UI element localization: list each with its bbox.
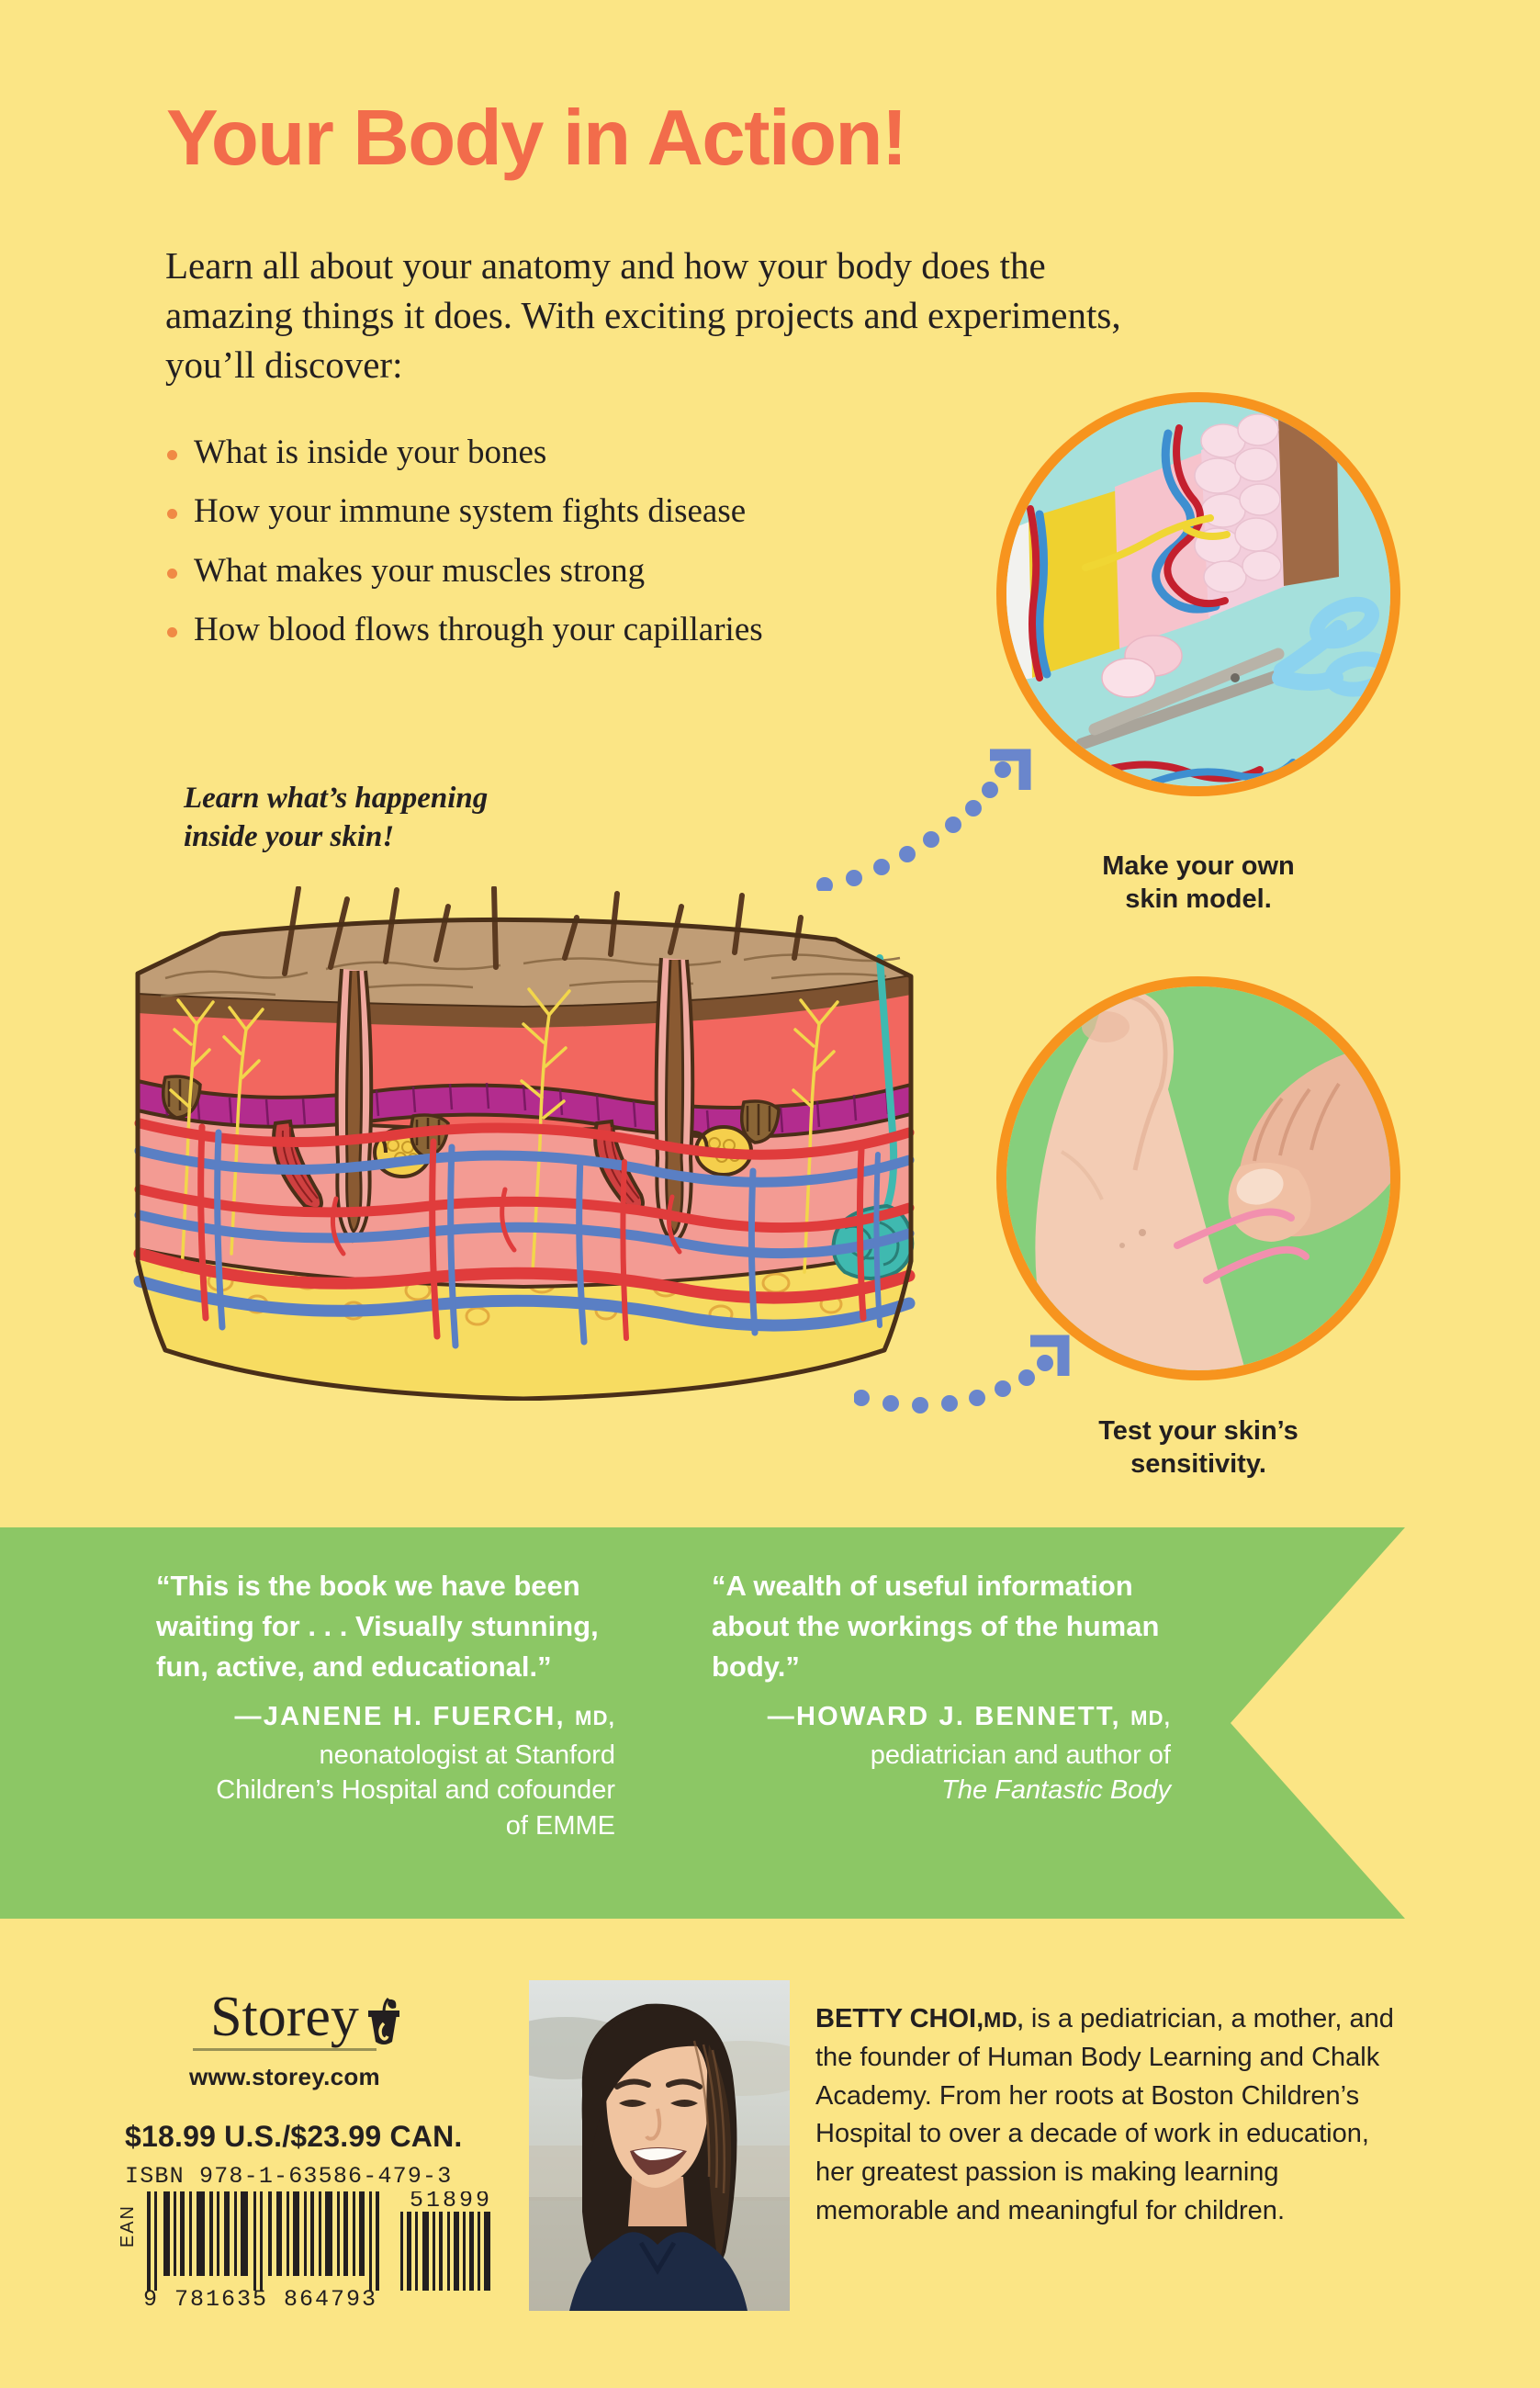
logo-underline xyxy=(193,2048,377,2051)
publisher-wordmark: Storey xyxy=(210,1988,359,2045)
author-name: BETTY CHOI, xyxy=(815,2004,984,2033)
quote-text: “A wealth of useful information about th… xyxy=(712,1566,1171,1687)
list-item: What is inside your bones xyxy=(167,434,994,471)
page-title: Your Body in Action! xyxy=(166,99,906,177)
list-item: How blood flows through your capillaries xyxy=(167,611,994,648)
quote-text: “This is the book we have been waiting f… xyxy=(156,1566,615,1687)
ean-label: EAN xyxy=(118,2204,139,2247)
photo-sensitivity-caption: Test your skin’s sensitivity. xyxy=(996,1414,1400,1481)
book-back-cover: Your Body in Action! Learn all about you… xyxy=(0,0,1540,2388)
photo-skin-model xyxy=(996,392,1400,796)
author-bio-text: is a pediatrician, a mother, and the fou… xyxy=(815,2004,1394,2225)
quote-attribution: —JANENE H. FUERCH, MD, xyxy=(156,1698,615,1736)
barcode: 9 781635 864793 51899 xyxy=(140,2191,507,2315)
author-bio: BETTY CHOI,MD, is a pediatrician, a moth… xyxy=(815,2000,1394,2231)
quote-role-line2: Children’s Hospital and cofounder xyxy=(156,1773,615,1808)
flowerpot-icon xyxy=(363,1996,405,2049)
skin-figure-caption-line1: Learn what’s happening xyxy=(184,779,488,817)
barcode-digits: 9 781635 864793 xyxy=(143,2286,377,2311)
photo-skin-model-caption: Make your own skin model. xyxy=(996,850,1400,917)
quote-role-line1: neonatologist at Stanford xyxy=(156,1738,615,1774)
isbn-label: ISBN 978-1-63586-479-3 xyxy=(125,2163,452,2190)
quote-attribution-md: MD xyxy=(1130,1707,1164,1729)
skin-cross-section-illustration xyxy=(110,886,937,1401)
list-item: What makes your muscles strong xyxy=(167,552,994,590)
price-label: $18.99 U.S./$23.99 CAN. xyxy=(125,2120,462,2154)
caption-line1: Make your own xyxy=(996,850,1400,883)
quote-role-line1: pediatrician and author of xyxy=(712,1738,1171,1774)
quote-card-2: “A wealth of useful information about th… xyxy=(712,1566,1171,1808)
bullet-dot-icon xyxy=(167,627,177,637)
list-item-label: How blood flows through your capillaries xyxy=(194,611,763,648)
quote-attribution-name: —HOWARD J. BENNETT, xyxy=(768,1702,1121,1731)
quote-attribution-md: MD xyxy=(575,1707,609,1729)
author-photo xyxy=(529,1980,790,2311)
quote-attribution: —HOWARD J. BENNETT, MD, xyxy=(712,1698,1171,1736)
list-item: How your immune system fights disease xyxy=(167,492,994,530)
caption-line1: Test your skin’s xyxy=(996,1414,1400,1447)
quote-attribution-name: —JANENE H. FUERCH, xyxy=(235,1702,566,1731)
photo-sensitivity xyxy=(996,976,1400,1380)
feature-list: What is inside your bones How your immun… xyxy=(167,434,994,670)
publisher-name: Storey xyxy=(210,1986,359,2048)
intro-paragraph: Learn all about your anatomy and how you… xyxy=(165,241,1139,389)
arrowhead-icon xyxy=(1030,1341,1063,1376)
publisher-logo[interactable]: Storey www.storey.com xyxy=(138,1988,432,2091)
bullet-dot-icon xyxy=(167,450,177,460)
quote-card-1: “This is the book we have been waiting f… xyxy=(156,1566,615,1843)
arrowhead-icon xyxy=(990,755,1025,790)
list-item-label: What is inside your bones xyxy=(194,434,546,471)
barcode-addon-digits: 51899 xyxy=(410,2191,492,2213)
quote-role: pediatrician and author of The Fantastic… xyxy=(712,1738,1171,1808)
caption-line2: skin model. xyxy=(996,883,1400,916)
quote-attribution-comma: , xyxy=(1164,1707,1171,1729)
skin-figure-caption: Learn what’s happening inside your skin! xyxy=(184,779,488,856)
bullet-dot-icon xyxy=(167,569,177,579)
list-item-label: How your immune system fights disease xyxy=(194,492,746,530)
quote-role: neonatologist at Stanford Children’s Hos… xyxy=(156,1738,615,1844)
quote-attribution-comma: , xyxy=(609,1707,615,1729)
caption-line2: sensitivity. xyxy=(996,1447,1400,1481)
author-credential: MD, xyxy=(984,2008,1024,2032)
bullet-dot-icon xyxy=(167,509,177,519)
list-item-label: What makes your muscles strong xyxy=(194,552,645,590)
quote-role-line3: of EMME xyxy=(156,1808,615,1844)
publisher-url[interactable]: www.storey.com xyxy=(138,2063,432,2091)
skin-figure-caption-line2: inside your skin! xyxy=(184,817,488,856)
quote-role-book-title: The Fantastic Body xyxy=(712,1773,1171,1808)
